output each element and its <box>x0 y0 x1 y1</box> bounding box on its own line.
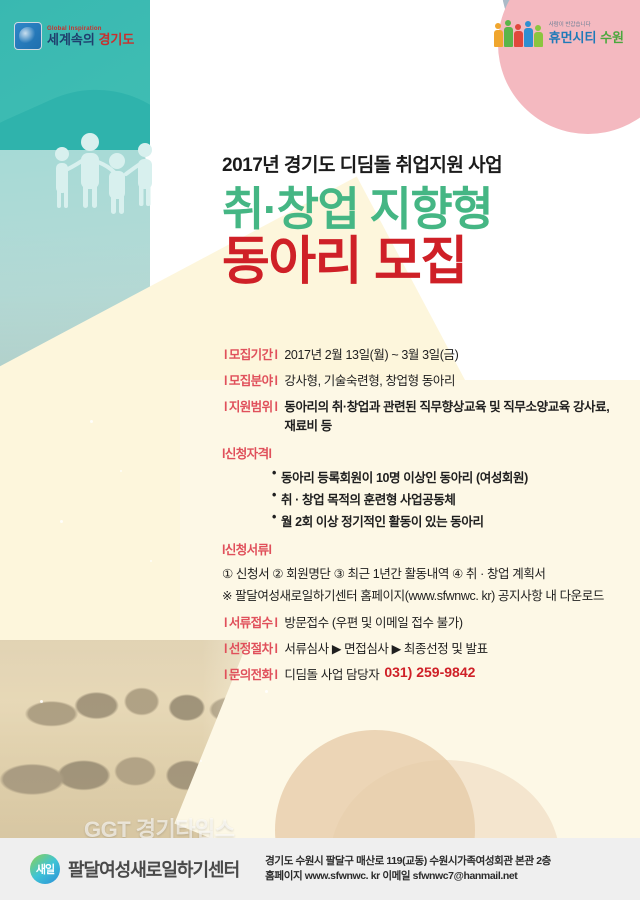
contact-prefix: 디딤돌 사업 담당자 <box>284 664 379 683</box>
contact-phone[interactable]: 031) 259-9842 <box>384 664 475 680</box>
qualification-heading: l신청자격l <box>222 443 634 462</box>
detail-label: 선정절차 <box>229 642 273 656</box>
detail-row: l선정절차l 서류심사 ▶ 면접심사 ▶ 최종선정 및 발표 <box>222 638 634 657</box>
detail-value: 2017년 2월 13일(월) ~ 3월 3일(금) <box>284 344 458 363</box>
gyeonggi-name-highlight: 경기도 <box>98 32 134 47</box>
details-section: l모집기간l 2017년 2월 13일(월) ~ 3월 3일(금) l모집분야l… <box>222 344 634 690</box>
contact-row: l문의전화l 디딤돌 사업 담당자 031) 259-9842 <box>222 664 634 683</box>
sparkle-dot <box>60 520 63 523</box>
poster-title-line1: 취·창업 지향형 <box>222 185 632 233</box>
detail-row: l서류접수l 방문접수 (우편 및 이메일 접수 불가) <box>222 612 634 631</box>
gyeonggi-name: 세계속의 <box>47 32 98 47</box>
detail-row: l모집분야l 강사형, 기술숙련형, 창업형 동아리 <box>222 370 634 389</box>
suwon-name: 휴먼시티 <box>549 30 600 45</box>
poster-root: Global Inspiration 세계속의 경기도 사람이 반갑습니다 휴먼… <box>0 0 640 900</box>
footer-address: 경기도 수원시 팔달구 매산로 119(교동) 수원시가족여성회관 본관 2층 <box>265 854 551 869</box>
footer-web-email: 홈페이지 www.sfwnwc. kr 이메일 sfwnwc7@hanmail.… <box>265 869 551 884</box>
poster-kicker: 2017년 경기도 디딤돌 취업지원 사업 <box>222 150 632 177</box>
sparkle-dot <box>200 760 202 762</box>
detail-value: 방문접수 (우편 및 이메일 접수 불가) <box>284 612 462 631</box>
detail-value: 강사형, 기술숙련형, 창업형 동아리 <box>284 370 455 389</box>
detail-row: l모집기간l 2017년 2월 13일(월) ~ 3월 3일(금) <box>222 344 634 363</box>
documents-line: ① 신청서 ② 회원명단 ③ 최근 1년간 활동내역 ④ 취 · 창업 계획서 <box>222 563 634 582</box>
footer-contact-block: 경기도 수원시 팔달구 매산로 119(교동) 수원시가족여성회관 본관 2층 … <box>265 854 551 884</box>
center-logo[interactable]: 새일 팔달여성새로일하기센터 <box>30 854 239 884</box>
detail-label: 모집기간 <box>229 348 273 362</box>
list-item: 동아리 등록회원이 10명 이상인 동아리 (여성회원) <box>272 467 634 486</box>
poster-footer: 새일 팔달여성새로일하기센터 경기도 수원시 팔달구 매산로 119(교동) 수… <box>0 838 640 900</box>
detail-label: 지원범위 <box>229 400 273 414</box>
detail-value: 동아리의 취·창업과 관련된 직무향상교육 및 직무소양교육 강사료, <box>284 396 609 415</box>
contact-label: 문의전화 <box>229 668 273 682</box>
center-name: 팔달여성새로일하기센터 <box>68 856 239 882</box>
documents-heading: l신청서류l <box>222 539 634 558</box>
hero-title-block: 2017년 경기도 디딤돌 취업지원 사업 취·창업 지향형 동아리 모집 <box>222 150 632 290</box>
gyeonggi-emblem-icon <box>14 22 42 50</box>
suwon-tagline: 사람이 반갑습니다 <box>549 23 624 29</box>
detail-value: 서류심사 ▶ 면접심사 ▶ 최종선정 및 발표 <box>284 638 487 657</box>
detail-label: 모집분야 <box>229 374 273 388</box>
suwon-name-highlight: 수원 <box>600 30 624 45</box>
sparkle-dot <box>90 420 93 423</box>
detail-label: 서류접수 <box>229 616 273 630</box>
qualification-list: 동아리 등록회원이 10명 이상인 동아리 (여성회원) 취 · 창업 목적의 … <box>232 467 634 530</box>
group-people-icon <box>38 132 168 218</box>
sparkle-dot <box>150 560 152 562</box>
detail-value-cont: 재료비 등 <box>284 415 609 434</box>
sparkle-dot <box>120 470 122 472</box>
detail-row: l지원범위l 동아리의 취·창업과 관련된 직무향상교육 및 직무소양교육 강사… <box>222 396 634 434</box>
saeil-logo-icon: 새일 <box>30 854 60 884</box>
list-item: 취 · 창업 목적의 훈련형 사업공동체 <box>272 489 634 508</box>
poster-title-line2: 동아리 모집 <box>222 235 632 290</box>
gyeonggi-province-logo[interactable]: Global Inspiration 세계속의 경기도 <box>14 22 134 50</box>
sparkle-dot <box>40 700 43 703</box>
documents-note: ※ 팔달여성새로일하기센터 홈페이지(www.sfwnwc. kr) 공지사항 … <box>222 585 634 604</box>
suwon-city-logo[interactable]: 사람이 반갑습니다 휴먼시티 수원 <box>494 20 624 47</box>
sparkle-dot <box>265 690 268 693</box>
list-item: 월 2회 이상 정기적인 활동이 있는 동아리 <box>272 511 634 530</box>
suwon-people-icon <box>494 20 543 47</box>
